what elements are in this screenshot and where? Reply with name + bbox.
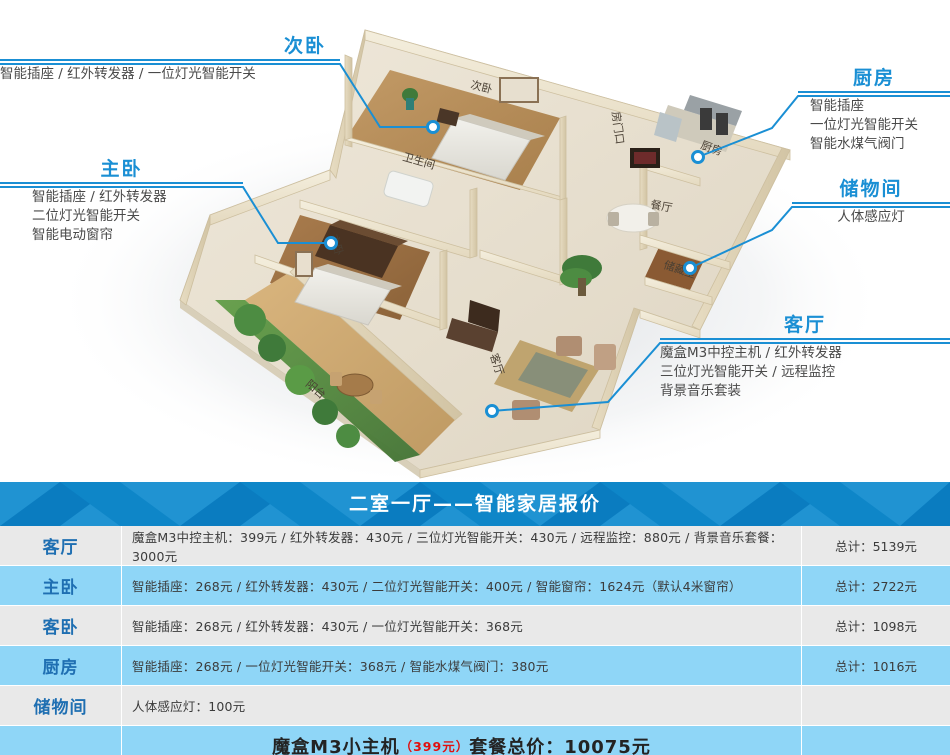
row-items: 智能插座：268元 / 一位灯光智能开关：368元 / 智能水煤气阀门：380元 (122, 646, 802, 685)
callout-secondary-bedroom: 次卧 智能插座 / 红外转发器 / 一位灯光智能开关 (0, 34, 340, 84)
callout-line: 三位灯光智能开关 / 远程监控 (660, 363, 950, 382)
table-row: 储物间 人体感应灯：100元 (0, 686, 950, 726)
quote-header-title: 二室一厅——智能家居报价 (0, 482, 950, 526)
callout-kitchen: 厨房 智能插座 一位灯光智能开关 智能水煤气阀门 (798, 66, 950, 154)
callout-line: 智能水煤气阀门 (810, 135, 950, 154)
grand-total-prefix: 魔盒M3小主机 (272, 733, 399, 755)
dot-living-room (487, 406, 498, 417)
callout-line: 魔盒M3中控主机 / 红外转发器 (660, 344, 950, 363)
quote-header: 二室一厅——智能家居报价 (0, 482, 950, 526)
dot-secondary-bedroom (428, 122, 439, 133)
callout-line: 人体感应灯 (792, 204, 950, 227)
callout-title-kitchen: 厨房 (798, 66, 950, 90)
table-row: 厨房 智能插座：268元 / 一位灯光智能开关：368元 / 智能水煤气阀门：3… (0, 646, 950, 686)
dot-storage (685, 263, 696, 274)
callout-title-storage: 储物间 (792, 177, 950, 201)
row-total: 总计：5139元 (802, 526, 950, 565)
table-row: 客卧 智能插座：268元 / 红外转发器：430元 / 一位灯光智能开关：368… (0, 606, 950, 646)
callout-line: 智能插座 / 红外转发器 (32, 188, 243, 207)
callout-line: 背景音乐套装 (660, 382, 950, 401)
callout-master-bedroom: 主卧 智能插座 / 红外转发器 二位灯光智能开关 智能电动窗帘 (0, 157, 243, 245)
grand-total-text: 魔盒M3小主机 （399元） 套餐总价：10075元 (122, 726, 802, 755)
row-total: 总计：2722元 (802, 566, 950, 605)
row-total: 总计：1016元 (802, 646, 950, 685)
dot-master-bedroom (326, 238, 337, 249)
row-items: 魔盒M3中控主机：399元 / 红外转发器：430元 / 三位灯光智能开关：43… (122, 526, 802, 565)
table-row: 客厅 魔盒M3中控主机：399元 / 红外转发器：430元 / 三位灯光智能开关… (0, 526, 950, 566)
row-items: 智能插座：268元 / 红外转发器：430元 / 二位灯光智能开关：400元 /… (122, 566, 802, 605)
row-total: 总计：1098元 (802, 606, 950, 645)
callout-line: 智能电动窗帘 (32, 226, 243, 245)
dot-kitchen (693, 152, 704, 163)
table-row: 主卧 智能插座：268元 / 红外转发器：430元 / 二位灯光智能开关：400… (0, 566, 950, 606)
page-root: 次卧 卫生间 主卧 房门口 厨房 餐厅 储藏室 客厅 阳台 (0, 0, 950, 755)
callout-title-master-bedroom: 主卧 (0, 157, 243, 181)
grand-total-note: （399元） (400, 736, 470, 755)
row-items: 智能插座：268元 / 红外转发器：430元 / 一位灯光智能开关：368元 (122, 606, 802, 645)
quote-table: 二室一厅——智能家居报价 客厅 魔盒M3中控主机：399元 / 红外转发器：43… (0, 482, 950, 755)
callout-line: 智能插座 / 红外转发器 / 一位灯光智能开关 (0, 61, 340, 84)
row-room-name: 客卧 (0, 606, 122, 645)
callout-title-living-room: 客厅 (660, 313, 950, 337)
row-room-name: 厨房 (0, 646, 122, 685)
callout-line: 一位灯光智能开关 (810, 116, 950, 135)
grand-total-right-spacer (802, 726, 950, 755)
callout-line: 智能插座 (810, 97, 950, 116)
grand-total-row: 魔盒M3小主机 （399元） 套餐总价：10075元 (0, 726, 950, 755)
grand-total-suffix: 套餐总价：10075元 (469, 733, 651, 755)
row-room-name: 储物间 (0, 686, 122, 725)
callout-living-room: 客厅 魔盒M3中控主机 / 红外转发器 三位灯光智能开关 / 远程监控 背景音乐… (660, 313, 950, 401)
callout-title-secondary-bedroom: 次卧 (0, 34, 340, 58)
callout-storage: 储物间 人体感应灯 (792, 177, 950, 227)
row-room-name: 主卧 (0, 566, 122, 605)
row-items: 人体感应灯：100元 (122, 686, 802, 725)
row-room-name: 客厅 (0, 526, 122, 565)
grand-total-left-spacer (0, 726, 122, 755)
callout-line: 二位灯光智能开关 (32, 207, 243, 226)
floorplan-area: 次卧 卫生间 主卧 房门口 厨房 餐厅 储藏室 客厅 阳台 (0, 0, 950, 482)
row-total (802, 686, 950, 725)
